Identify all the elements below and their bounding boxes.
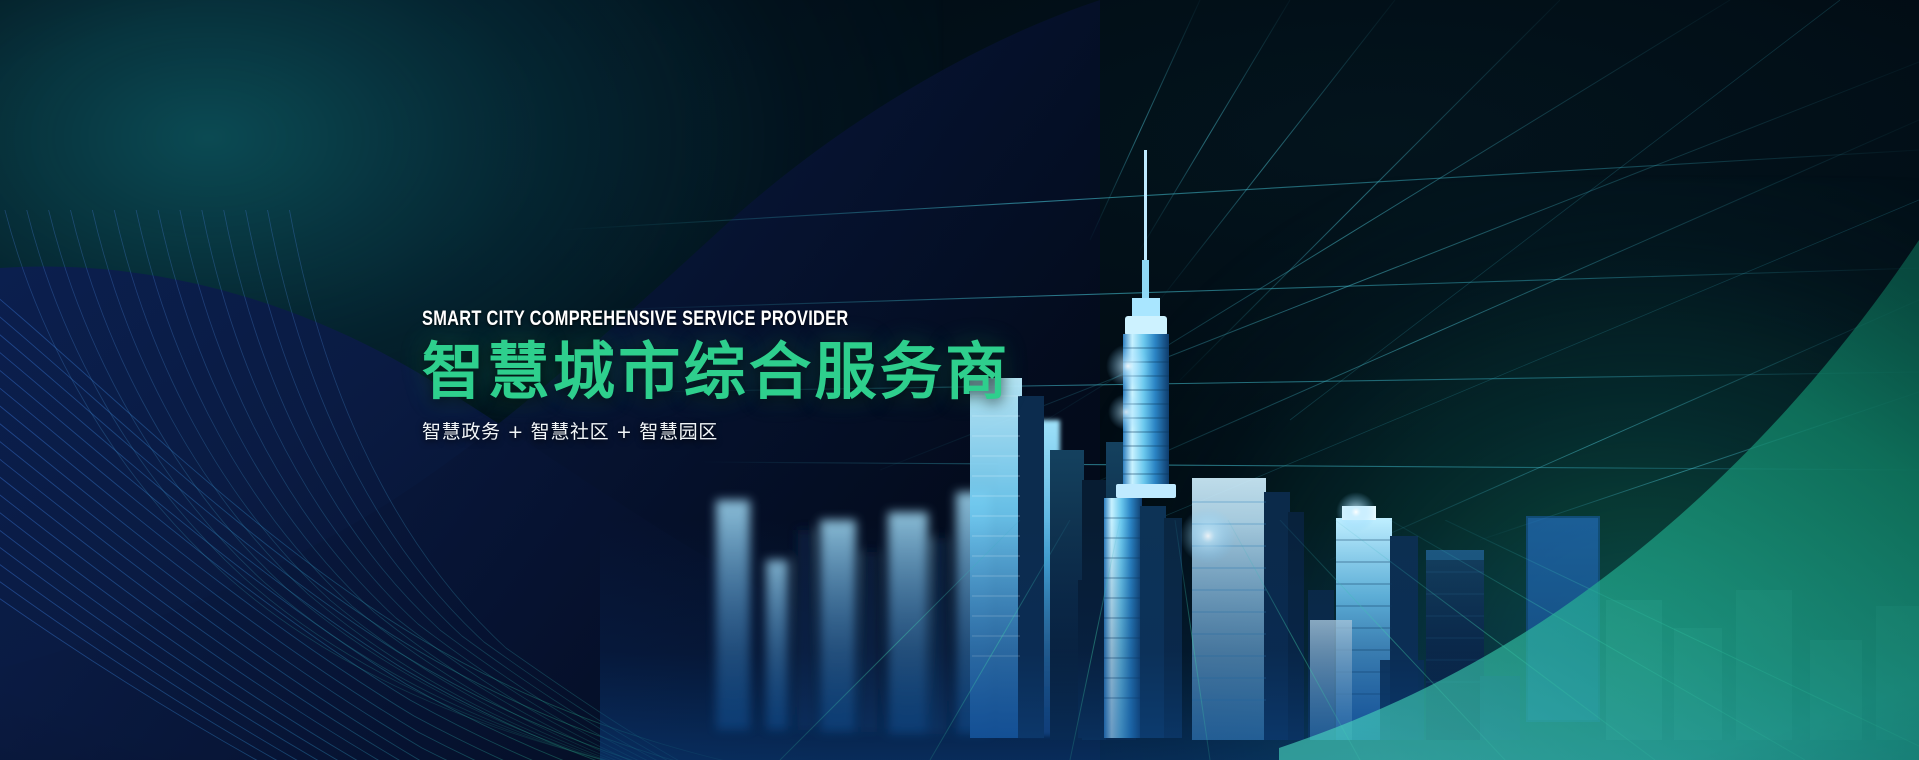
green-gradient-corner — [1279, 240, 1919, 760]
eyebrow-tagline: SMART CITY COMPREHENSIVE SERVICE PROVIDE… — [422, 307, 881, 331]
hero-copy-block: SMART CITY COMPREHENSIVE SERVICE PROVIDE… — [422, 307, 1011, 444]
smart-city-hero-banner: SMART CITY COMPREHENSIVE SERVICE PROVIDE… — [0, 0, 1919, 760]
subtitle-services: 智慧政务 + 智慧社区 + 智慧园区 — [422, 417, 1011, 444]
page-title: 智慧城市综合服务商 — [422, 340, 1011, 404]
